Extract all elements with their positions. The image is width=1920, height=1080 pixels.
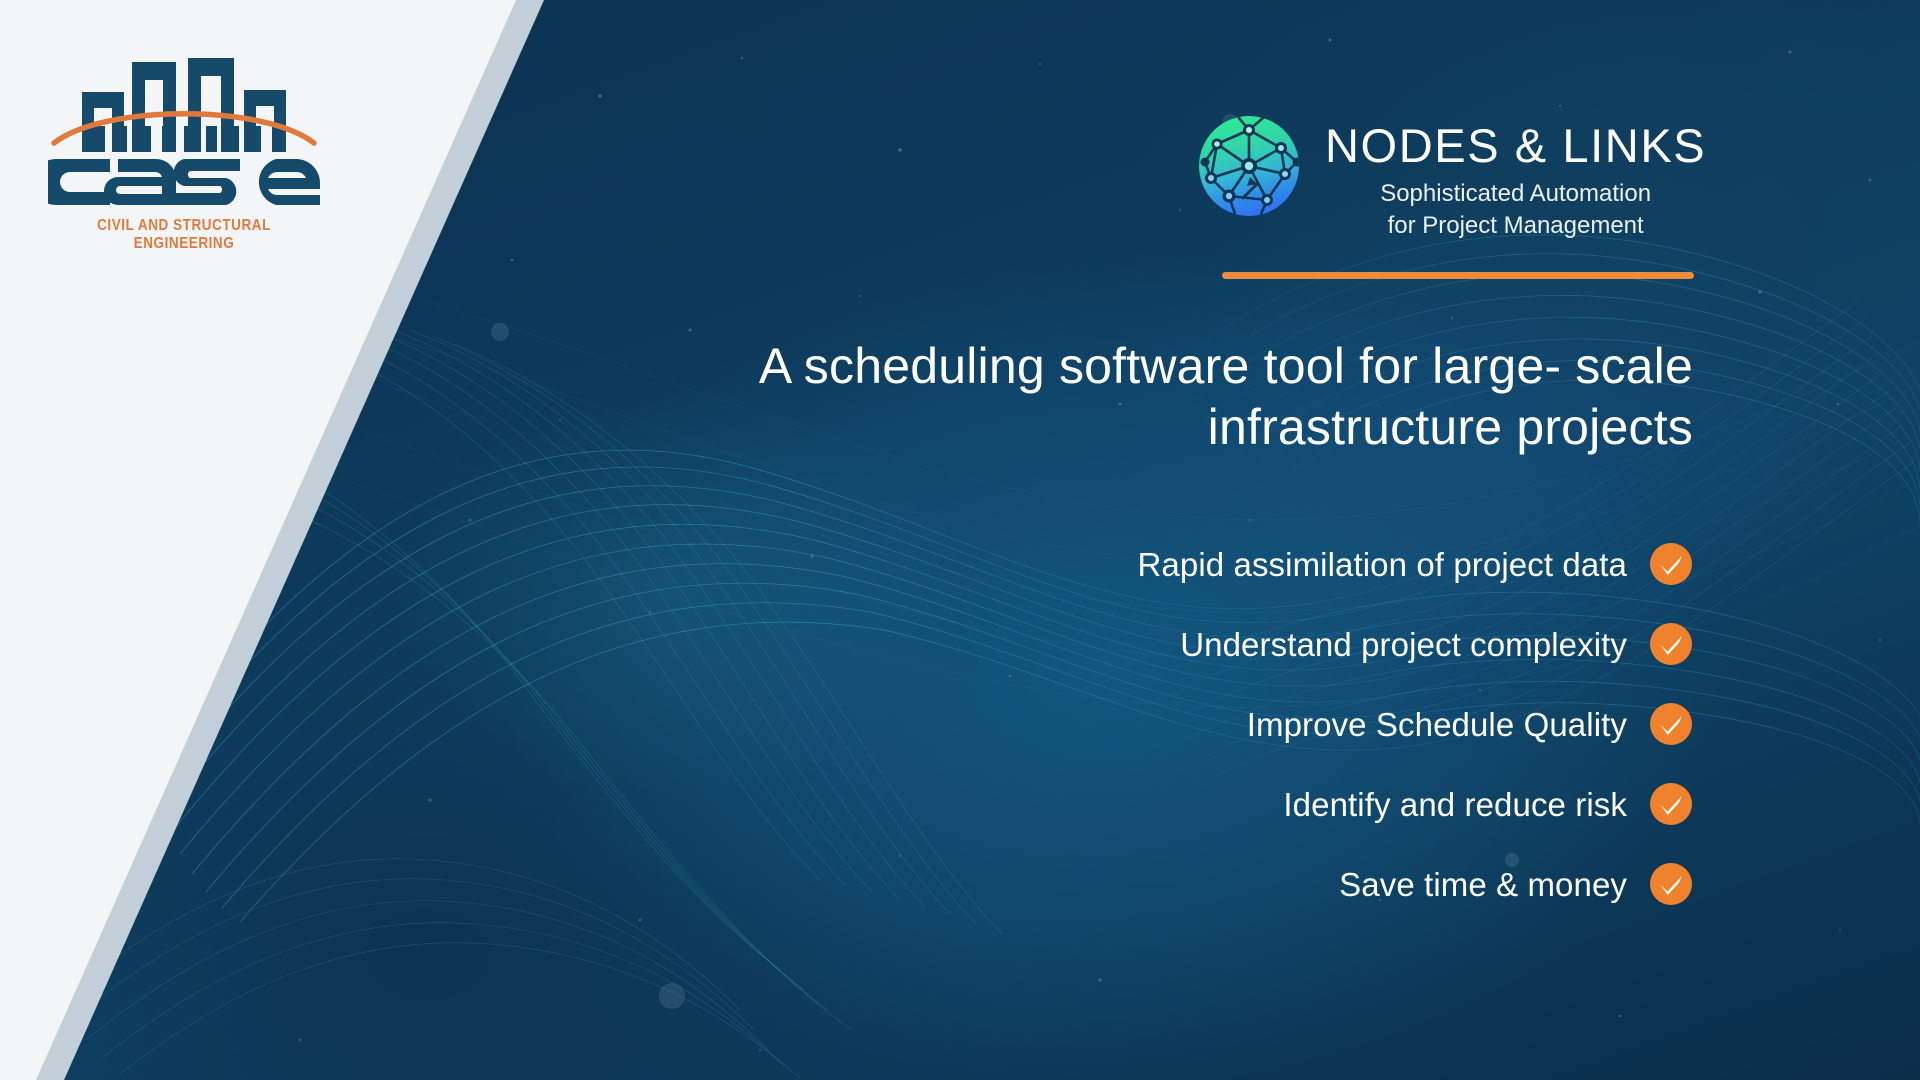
- building-skyline-icon: [48, 40, 320, 152]
- list-item-label: Understand project complexity: [1180, 628, 1627, 661]
- nodes-and-links-title: NODES & LINKS: [1325, 122, 1706, 169]
- check-circle-icon: [1649, 782, 1693, 826]
- check-circle-icon: [1649, 702, 1693, 746]
- headline-line-2: infrastructure projects: [633, 397, 1693, 458]
- nodes-and-links-logo: NODES & LINKS Sophisticated Automation f…: [1195, 112, 1706, 241]
- presentation-slide: CIVIL AND STRUCTURAL ENGINEERING: [0, 0, 1920, 1080]
- node-network-icon: [1195, 112, 1303, 220]
- list-item: Improve Schedule Quality: [593, 684, 1693, 764]
- check-circle-icon: [1649, 862, 1693, 906]
- orange-divider: [1222, 272, 1694, 279]
- case-logo: CIVIL AND STRUCTURAL ENGINEERING: [48, 40, 320, 246]
- check-circle-icon: [1649, 542, 1693, 586]
- list-item-label: Rapid assimilation of project data: [1138, 548, 1628, 581]
- check-circle-icon: [1649, 622, 1693, 666]
- list-item: Save time & money: [593, 844, 1693, 924]
- case-wordmark: [48, 150, 320, 212]
- nodes-and-links-subtitle-line2: for Project Management: [1325, 210, 1706, 242]
- list-item-label: Identify and reduce risk: [1283, 788, 1627, 821]
- list-item: Rapid assimilation of project data: [593, 524, 1693, 604]
- list-item-label: Save time & money: [1339, 868, 1627, 901]
- nodes-and-links-text: NODES & LINKS Sophisticated Automation f…: [1325, 112, 1706, 241]
- headline-line-1: A scheduling software tool for large- sc…: [633, 336, 1693, 397]
- list-item: Understand project complexity: [593, 604, 1693, 684]
- benefits-list: Rapid assimilation of project data Under…: [593, 524, 1693, 924]
- case-tagline: CIVIL AND STRUCTURAL ENGINEERING: [48, 216, 320, 251]
- page-title: A scheduling software tool for large- sc…: [633, 336, 1693, 458]
- list-item: Identify and reduce risk: [593, 764, 1693, 844]
- nodes-and-links-subtitle-line1: Sophisticated Automation: [1325, 178, 1706, 210]
- list-item-label: Improve Schedule Quality: [1247, 708, 1627, 741]
